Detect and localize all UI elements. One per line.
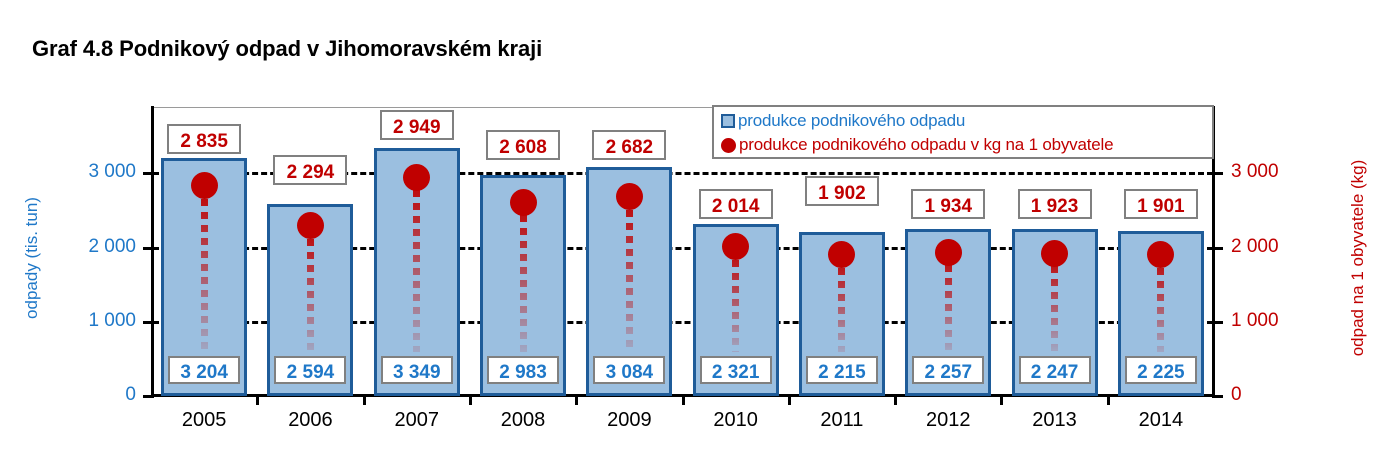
y-tick-left-text: 2 000 [88,236,136,258]
x-tick-8 [1000,394,1003,405]
x-category-label-2013: 2013 [1005,409,1105,432]
ytick-left-3000 [143,172,154,175]
dot-value-label-2007: 2 949 [380,110,454,140]
legend-circle-icon [721,138,736,153]
x-category-label-2009: 2009 [579,409,679,432]
ytick-right-1000 [1212,321,1223,324]
bar-value-label-2014: 2 225 [1125,356,1197,384]
ytick-right-3000 [1212,172,1223,175]
x-category-label-2006: 2006 [260,409,360,432]
dot-value-label-2010: 2 014 [699,189,773,219]
data-point-2007[interactable] [403,164,430,191]
bar-value-label-2010: 2 321 [700,356,772,384]
x-tick-5 [682,394,685,405]
legend-item-bar: produkce podnikového odpadu [721,109,965,133]
x-category-label-2010: 2010 [686,409,786,432]
legend: produkce podnikového odpadu produkce pod… [712,105,1214,159]
chart-container: Graf 4.8 Podnikový odpad v Jihomoravském… [0,0,1380,457]
x-category-label-2014: 2014 [1111,409,1211,432]
y-tick-right-text: 3 000 [1231,161,1279,183]
dot-stem-2006 [307,226,314,352]
x-tick-4 [575,394,578,405]
y-tick-right-text: 0 [1231,384,1242,406]
dot-value-label-2005: 2 835 [167,124,241,154]
x-category-label-2012: 2012 [898,409,998,432]
y-tick-right-text: 2 000 [1231,236,1279,258]
dot-stem-2010 [732,247,739,352]
dot-value-label-2014: 1 901 [1124,189,1198,219]
ytick-left-2000 [143,247,154,250]
y-axis-left-line [151,106,154,398]
dot-stem-2008 [520,202,527,352]
x-tick-3 [469,394,472,405]
y-tick-left-text: 1 000 [88,310,136,332]
bar-value-label-2012: 2 257 [912,356,984,384]
ytick-left-0 [143,395,154,398]
dot-value-label-2012: 1 934 [911,189,985,219]
y-tick-left-text: 0 [125,384,136,406]
x-tick-7 [894,394,897,405]
dot-stem-2009 [626,197,633,352]
dot-value-label-2013: 1 923 [1018,189,1092,219]
x-category-label-2007: 2007 [367,409,467,432]
data-point-2008[interactable] [510,189,537,216]
legend-item-dot: produkce podnikového odpadu v kg na 1 ob… [721,133,1113,157]
dot-stem-2014 [1157,255,1164,352]
ytick-right-2000 [1212,247,1223,250]
x-category-label-2011: 2011 [792,409,892,432]
data-point-2012[interactable] [935,239,962,266]
data-point-2005[interactable] [191,172,218,199]
x-tick-6 [788,394,791,405]
legend-square-icon [721,114,735,128]
ytick-left-1000 [143,321,154,324]
legend-item-bar-label: produkce podnikového odpadu [738,111,965,131]
ytick-right-0 [1212,395,1223,398]
dot-value-label-2011: 1 902 [805,176,879,206]
y-tick-right-text: 1 000 [1231,310,1279,332]
data-point-2010[interactable] [722,233,749,260]
bar-value-label-2011: 2 215 [806,356,878,384]
data-point-2013[interactable] [1041,240,1068,267]
dot-value-label-2008: 2 608 [486,130,560,160]
bar-value-label-2013: 2 247 [1019,356,1091,384]
legend-item-dot-label: produkce podnikového odpadu v kg na 1 ob… [739,135,1113,155]
bar-value-label-2009: 3 084 [593,356,665,384]
bar-value-label-2006: 2 594 [274,356,346,384]
x-category-label-2005: 2005 [154,409,254,432]
x-tick-1 [256,394,259,405]
y-axis-left-title: odpady (tis. tun) [22,158,42,358]
dot-value-label-2006: 2 294 [273,155,347,185]
x-category-label-2008: 2008 [473,409,573,432]
dot-value-label-2009: 2 682 [592,130,666,160]
bar-value-label-2008: 2 983 [487,356,559,384]
y-tick-left-text: 3 000 [88,161,136,183]
bar-value-label-2005: 3 204 [168,356,240,384]
dot-stem-2007 [413,177,420,352]
chart-title: Graf 4.8 Podnikový odpad v Jihomoravském… [32,36,542,62]
dot-stem-2012 [945,252,952,352]
dot-stem-2013 [1051,253,1058,352]
x-tick-9 [1107,394,1110,405]
dot-stem-2011 [838,255,845,352]
x-tick-2 [363,394,366,405]
y-axis-right-title: odpad na 1 obyvatele (kg) [1348,143,1368,373]
bar-value-label-2007: 3 349 [381,356,453,384]
dot-stem-2005 [201,186,208,352]
